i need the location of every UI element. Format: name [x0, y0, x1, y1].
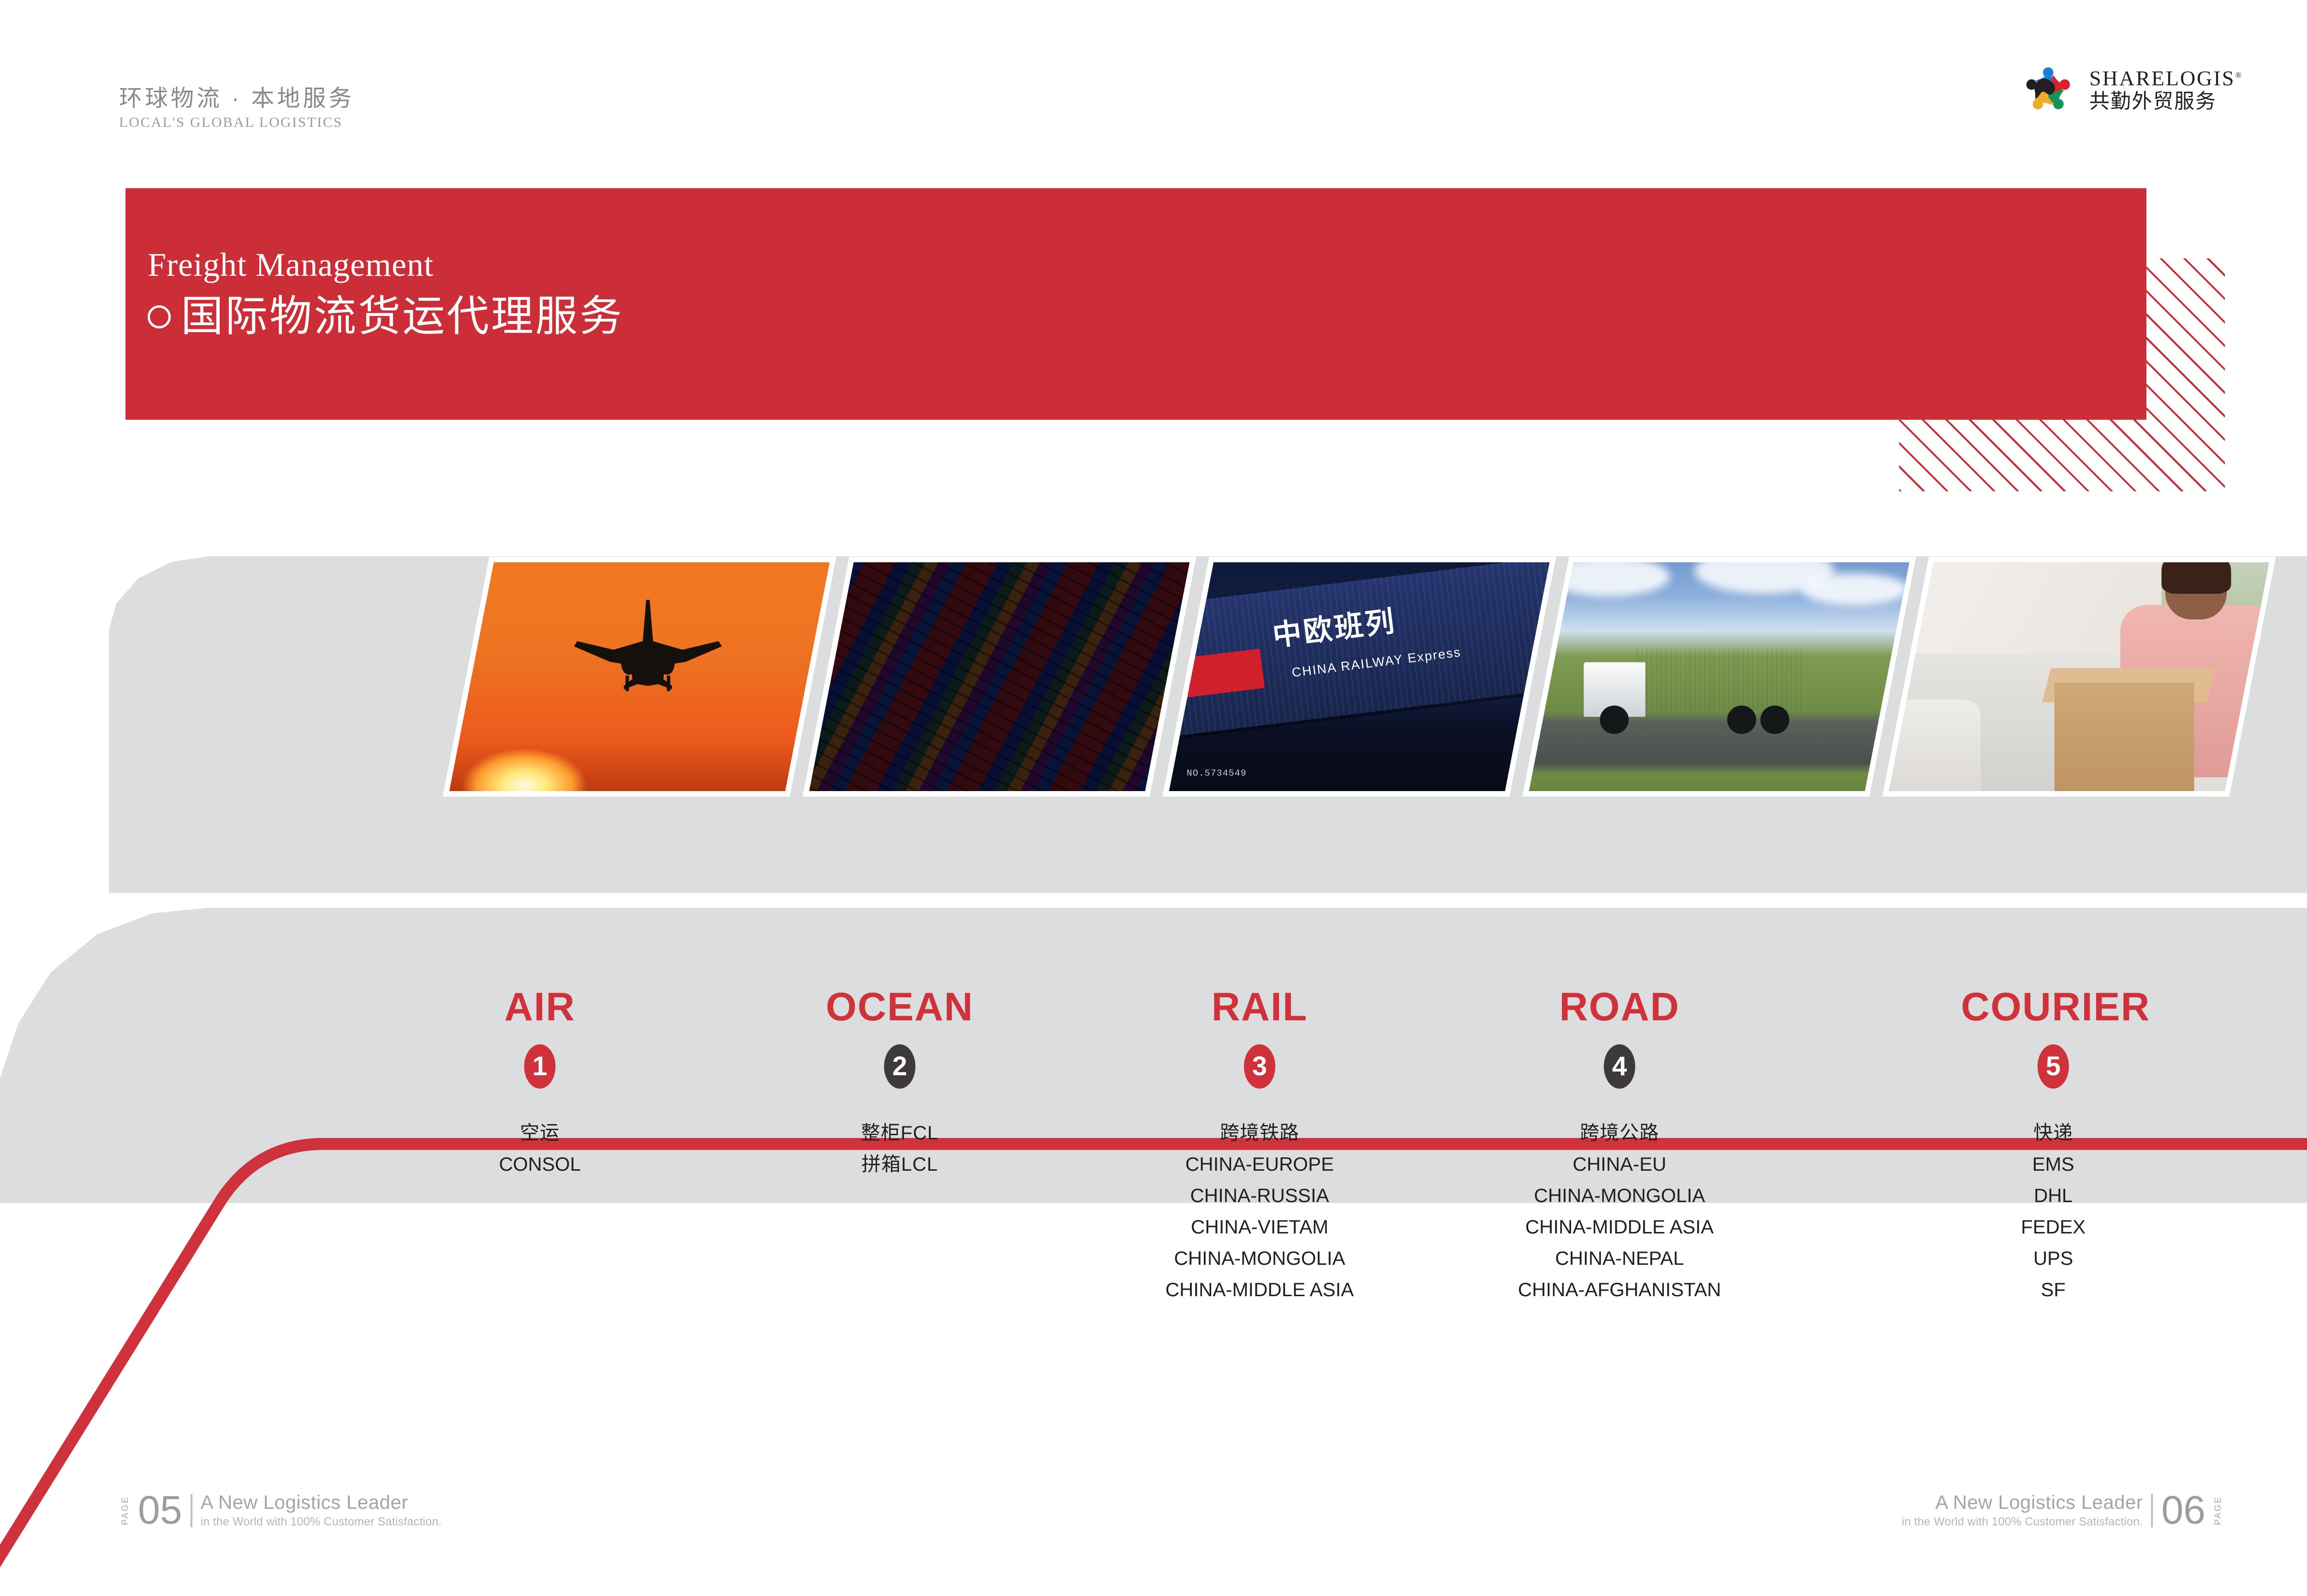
list-item: CHINA-RUSSIA [1153, 1180, 1366, 1211]
tagline-english: LOCAL'S GLOBAL LOGISTICS [119, 114, 354, 131]
page-number-left: 05 [138, 1494, 182, 1528]
list-item: 空运 [443, 1117, 637, 1149]
list-item: UPS [1961, 1243, 2146, 1274]
airplane-icon [541, 596, 754, 700]
column-title: COURIER [1961, 987, 2146, 1027]
timeline-column-rail[interactable]: RAIL 3 跨境铁路 CHINA-EUROPE CHINA-RUSSIA CH… [1153, 987, 1366, 1305]
list-item: CHINA-MIDDLE ASIA [1513, 1211, 1726, 1243]
transport-photo-strip: 中欧班列 CHINA RAILWAY Express NO.5734549 [0, 556, 2307, 893]
list-item: FEDEX [1961, 1211, 2146, 1243]
photo-air [442, 557, 836, 797]
footer-divider-right [2151, 1494, 2153, 1527]
registered-mark-icon: ® [2235, 71, 2243, 80]
banner-title-english: Freight Management [148, 248, 624, 281]
logo-name-en: SHARELOGIS® [2089, 68, 2243, 89]
header-tagline: 环球物流 · 本地服务 LOCAL'S GLOBAL LOGISTICS [119, 86, 354, 131]
footer-slogan-line1: A New Logistics Leader [1902, 1493, 2143, 1512]
list-item: CHINA-AFGHANISTAN [1513, 1274, 1726, 1305]
footer-slogan-line1: A New Logistics Leader [201, 1493, 442, 1512]
column-title: AIR [443, 987, 637, 1027]
company-logo: SHARELOGIS® 共勤外贸服务 [2018, 61, 2243, 119]
slide-root: 环球物流 · 本地服务 LOCAL'S GLOBAL LOGISTICS [0, 0, 2307, 1591]
step-badge-2: 2 [884, 1044, 915, 1089]
timeline-column-air[interactable]: AIR 1 空运 CONSOL [443, 987, 637, 1180]
list-item: SF [1961, 1274, 2146, 1305]
list-item: 快递 [1961, 1117, 2146, 1149]
photo-rail: 中欧班列 CHINA RAILWAY Express NO.5734549 [1162, 557, 1556, 797]
tagline-chinese: 环球物流 · 本地服务 [119, 86, 354, 111]
list-item: 跨境铁路 [1153, 1117, 1366, 1149]
footer-right: A New Logistics Leader in the World with… [1902, 1493, 2223, 1529]
step-badge-5: 5 [2038, 1044, 2069, 1089]
photo-road [1522, 557, 1916, 797]
logo-name-cn: 共勤外贸服务 [2089, 91, 2243, 112]
woman-hair [2161, 557, 2231, 594]
step-badge-3: 3 [1244, 1044, 1275, 1089]
timeline-column-courier[interactable]: COURIER 5 快递 EMS DHL FEDEX UPS SF [1961, 987, 2146, 1305]
sharelogis-pinwheel-icon [2018, 61, 2078, 119]
list-item: CHINA-EU [1513, 1149, 1726, 1180]
step-badge-1: 1 [524, 1044, 556, 1089]
list-item: DHL [1961, 1180, 2146, 1211]
list-item: CHINA-NEPAL [1513, 1243, 1726, 1274]
column-title: OCEAN [803, 987, 997, 1027]
list-item: 跨境公路 [1513, 1117, 1726, 1149]
title-banner: Freight Management 国际物流货运代理服务 [126, 188, 2146, 420]
page-label-right: PAGE [2214, 1496, 2223, 1525]
list-item: CHINA-MONGOLIA [1153, 1243, 1366, 1274]
step-badge-4: 4 [1604, 1044, 1635, 1089]
column-items: 跨境铁路 CHINA-EUROPE CHINA-RUSSIA CHINA-VIE… [1153, 1117, 1366, 1305]
list-item: CHINA-EUROPE [1153, 1149, 1366, 1180]
list-item: CONSOL [443, 1149, 637, 1180]
circle-bullet-icon [148, 305, 171, 328]
banner-title-chinese-row: 国际物流货运代理服务 [148, 292, 624, 341]
rail-container-body: 中欧班列 CHINA RAILWAY Express [1162, 557, 1556, 740]
column-items: 空运 CONSOL [443, 1117, 637, 1180]
sofa-arm [1882, 700, 1980, 797]
column-items: 整柜FCL 拼箱LCL [803, 1117, 997, 1180]
timeline-column-road[interactable]: ROAD 4 跨境公路 CHINA-EU CHINA-MONGOLIA CHIN… [1513, 987, 1726, 1305]
column-items: 跨境公路 CHINA-EU CHINA-MONGOLIA CHINA-MIDDL… [1513, 1117, 1726, 1305]
cardboard-package [2055, 682, 2194, 797]
list-item: CHINA-MONGOLIA [1513, 1180, 1726, 1211]
list-item: CHINA-MIDDLE ASIA [1153, 1274, 1366, 1305]
footer-slogan-line2: in the World with 100% Customer Satisfac… [201, 1515, 442, 1529]
list-item: CHINA-VIETAM [1153, 1211, 1366, 1243]
column-items: 快递 EMS DHL FEDEX UPS SF [1961, 1117, 2146, 1305]
list-item: EMS [1961, 1149, 2146, 1180]
column-title: ROAD [1513, 987, 1726, 1027]
page-label-left: PAGE [121, 1496, 130, 1525]
footer-slogan-left: A New Logistics Leader in the World with… [201, 1493, 442, 1529]
list-item: 整柜FCL [803, 1117, 997, 1149]
banner-title-chinese: 国际物流货运代理服务 [181, 292, 624, 341]
photo-ocean [802, 557, 1196, 797]
truck-trailer [1637, 648, 1801, 711]
footer-slogan-line2: in the World with 100% Customer Satisfac… [1902, 1515, 2143, 1529]
column-title: RAIL [1153, 987, 1366, 1027]
timeline-column-ocean[interactable]: OCEAN 2 整柜FCL 拼箱LCL [803, 987, 997, 1180]
footer-slogan-right: A New Logistics Leader in the World with… [1902, 1493, 2143, 1529]
page-number-right: 06 [2161, 1494, 2205, 1528]
list-item: 拼箱LCL [803, 1149, 997, 1180]
footer-divider-left [191, 1494, 192, 1527]
photo-courier [1882, 557, 2276, 797]
rail-car-number: NO.5734549 [1187, 768, 1247, 779]
logo-wordmark: SHARELOGIS® 共勤外贸服务 [2089, 68, 2243, 112]
footer-left: PAGE 05 A New Logistics Leader in the Wo… [121, 1493, 442, 1529]
